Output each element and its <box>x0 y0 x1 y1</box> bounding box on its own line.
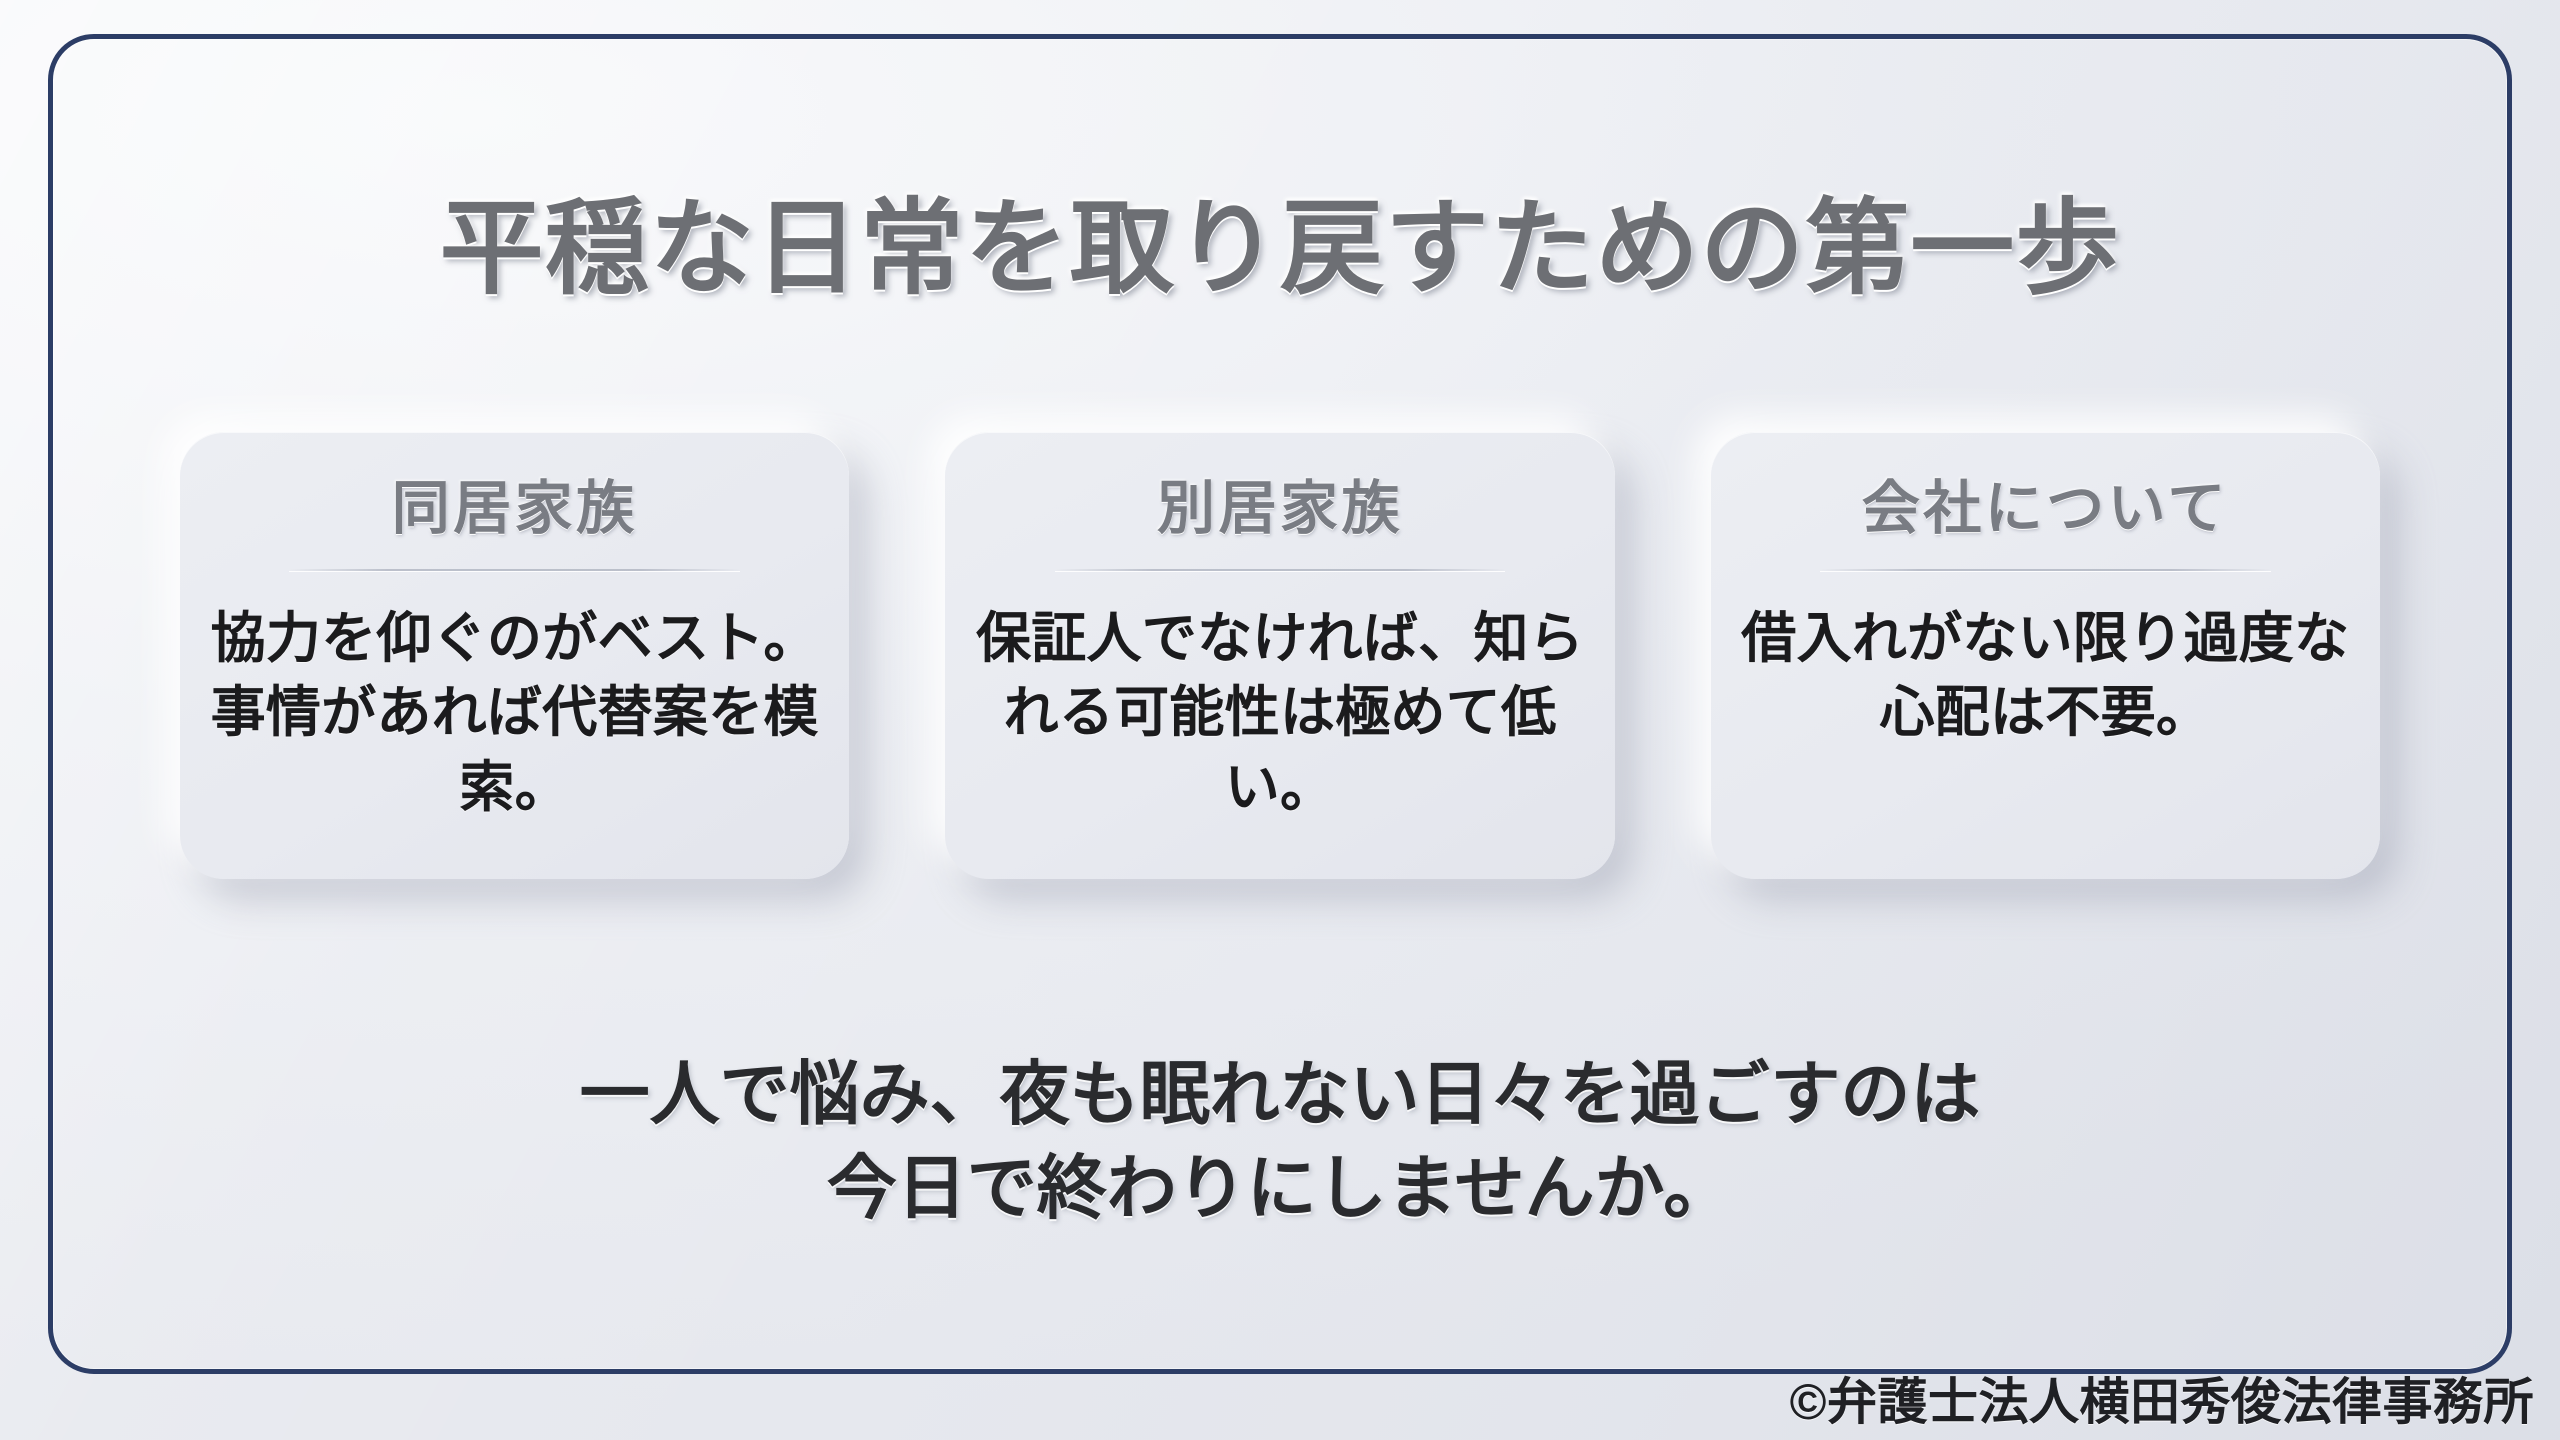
closing-message: 一人で悩み、夜も眠れない日々を過ごすのは 今日で終わりにしませんか。 <box>0 1048 2560 1236</box>
closing-message-line-1: 一人で悩み、夜も眠れない日々を過ごすのは <box>0 1048 2560 1142</box>
card-title-cohabiting-family: 同居家族 <box>210 476 819 543</box>
card-divider <box>289 569 740 571</box>
page-title: 平穏な日常を取り戻すための第一歩 <box>0 192 2560 306</box>
card-divider <box>1055 569 1506 571</box>
card-row: 同居家族 協力を仰ぐのがベスト。事情があれば代替案を模索。 別居家族 保証人でな… <box>180 432 2380 879</box>
card-body-separated-family: 保証人でなければ、知られる可能性は極めて低い。 <box>975 601 1584 825</box>
slide-content: 平穏な日常を取り戻すための第一歩 同居家族 協力を仰ぐのがベスト。事情があれば代… <box>0 0 2560 1440</box>
copyright-notice: ©弁護士法人横田秀俊法律事務所 <box>1790 1362 2534 1434</box>
card-body-about-company: 借入れがない限り過度な心配は不要。 <box>1741 601 2350 751</box>
card-title-separated-family: 別居家族 <box>975 476 1584 543</box>
card-about-company: 会社について 借入れがない限り過度な心配は不要。 <box>1711 432 2380 879</box>
closing-message-line-2: 今日で終わりにしませんか。 <box>0 1142 2560 1236</box>
card-title-about-company: 会社について <box>1741 476 2350 543</box>
slide-canvas: 平穏な日常を取り戻すための第一歩 同居家族 協力を仰ぐのがベスト。事情があれば代… <box>0 0 2560 1440</box>
card-separated-family: 別居家族 保証人でなければ、知られる可能性は極めて低い。 <box>945 432 1614 879</box>
card-cohabiting-family: 同居家族 協力を仰ぐのがベスト。事情があれば代替案を模索。 <box>180 432 849 879</box>
card-body-cohabiting-family: 協力を仰ぐのがベスト。事情があれば代替案を模索。 <box>210 601 819 825</box>
card-divider <box>1820 569 2271 571</box>
